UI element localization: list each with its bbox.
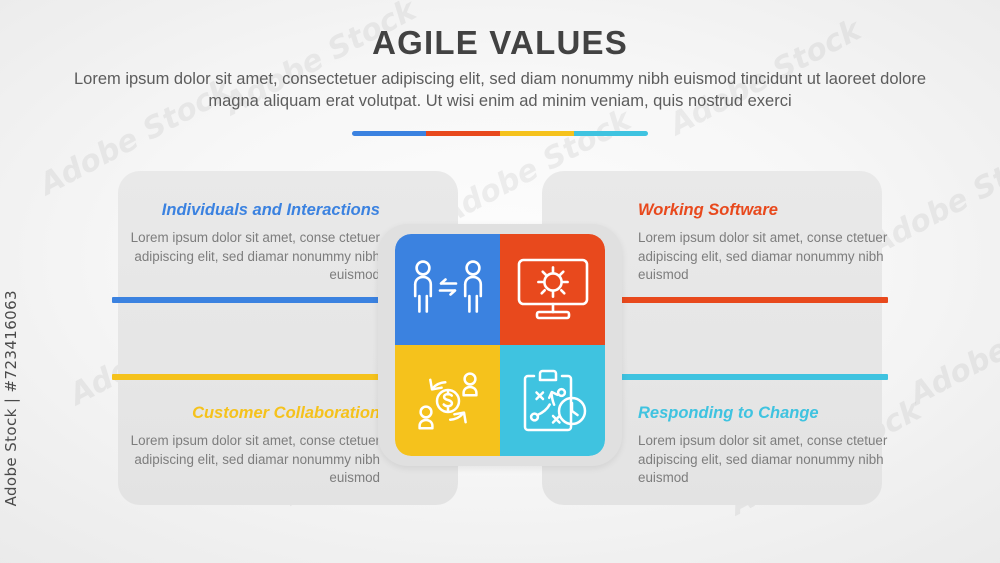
connector-line-customer-collaboration xyxy=(112,374,422,380)
connector-line-working-software xyxy=(578,297,888,303)
value-body-working-software: Lorem ipsum dolor sit amet, conse ctetue… xyxy=(638,229,890,285)
page-subtitle: Lorem ipsum dolor sit amet, consectetuer… xyxy=(60,68,940,112)
divider-segment-cyan xyxy=(574,131,648,136)
value-block-individuals-and-interactions[interactable]: Individuals and Interactions Lorem ipsum… xyxy=(128,200,380,285)
page-title: AGILE VALUES xyxy=(0,24,1000,62)
value-heading-customer-collaboration: Customer Collaboration xyxy=(128,403,380,423)
divider-segment-red xyxy=(426,131,500,136)
value-block-customer-collaboration[interactable]: Customer Collaboration Lorem ipsum dolor… xyxy=(128,403,380,488)
connector-line-responding-to-change xyxy=(578,374,888,380)
value-heading-individuals-and-interactions: Individuals and Interactions xyxy=(128,200,380,220)
icon-cell-working-software[interactable] xyxy=(500,234,605,345)
value-body-responding-to-change: Lorem ipsum dolor sit amet, conse ctetue… xyxy=(638,432,890,488)
watermark-tile: Adobe Stock xyxy=(904,283,1000,413)
value-heading-responding-to-change: Responding to Change xyxy=(638,403,890,423)
center-icon-grid xyxy=(395,234,605,456)
stock-watermark-label: Adobe Stock | #723416063 xyxy=(2,290,20,506)
connector-line-individuals-and-interactions xyxy=(112,297,422,303)
monitor-gear-icon xyxy=(515,257,591,323)
value-heading-working-software: Working Software xyxy=(638,200,890,220)
divider-segment-blue xyxy=(352,131,426,136)
color-divider xyxy=(352,131,648,136)
divider-segment-yellow xyxy=(500,131,574,136)
icon-cell-responding-to-change[interactable] xyxy=(500,345,605,456)
value-body-individuals-and-interactions: Lorem ipsum dolor sit amet, conse ctetue… xyxy=(128,229,380,285)
value-body-customer-collaboration: Lorem ipsum dolor sit amet, conse ctetue… xyxy=(128,432,380,488)
clipboard-strategy-clock-icon xyxy=(515,367,591,435)
icon-cell-individuals-and-interactions[interactable] xyxy=(395,234,500,345)
value-block-working-software[interactable]: Working Software Lorem ipsum dolor sit a… xyxy=(638,200,890,285)
two-people-exchange-icon xyxy=(409,259,487,321)
infographic-canvas: Adobe Stock Adobe Stock Adobe Stock Adob… xyxy=(0,0,1000,563)
value-block-responding-to-change[interactable]: Responding to Change Lorem ipsum dolor s… xyxy=(638,403,890,488)
money-people-cycle-icon xyxy=(410,367,486,435)
icon-cell-customer-collaboration[interactable] xyxy=(395,345,500,456)
